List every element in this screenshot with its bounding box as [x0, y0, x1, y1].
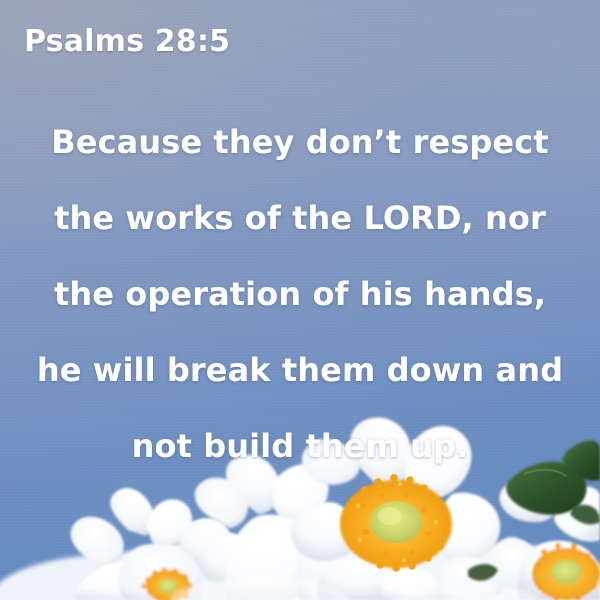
- verse-text-block: Because they don’t respect the works of …: [0, 104, 600, 484]
- verse-line: the works of the LORD, nor: [0, 180, 600, 256]
- verse-image-canvas: Psalms 28:5 Because they don’t respect t…: [0, 0, 600, 600]
- verse-line: Because they don’t respect: [0, 104, 600, 180]
- flower-right-stamens: [532, 543, 600, 600]
- scripture-reference-title: Psalms 28:5: [24, 24, 230, 59]
- verse-line: not build them up.: [0, 408, 600, 484]
- verse-line: he will break them down and: [0, 332, 600, 408]
- verse-line: the operation of his hands,: [0, 256, 600, 332]
